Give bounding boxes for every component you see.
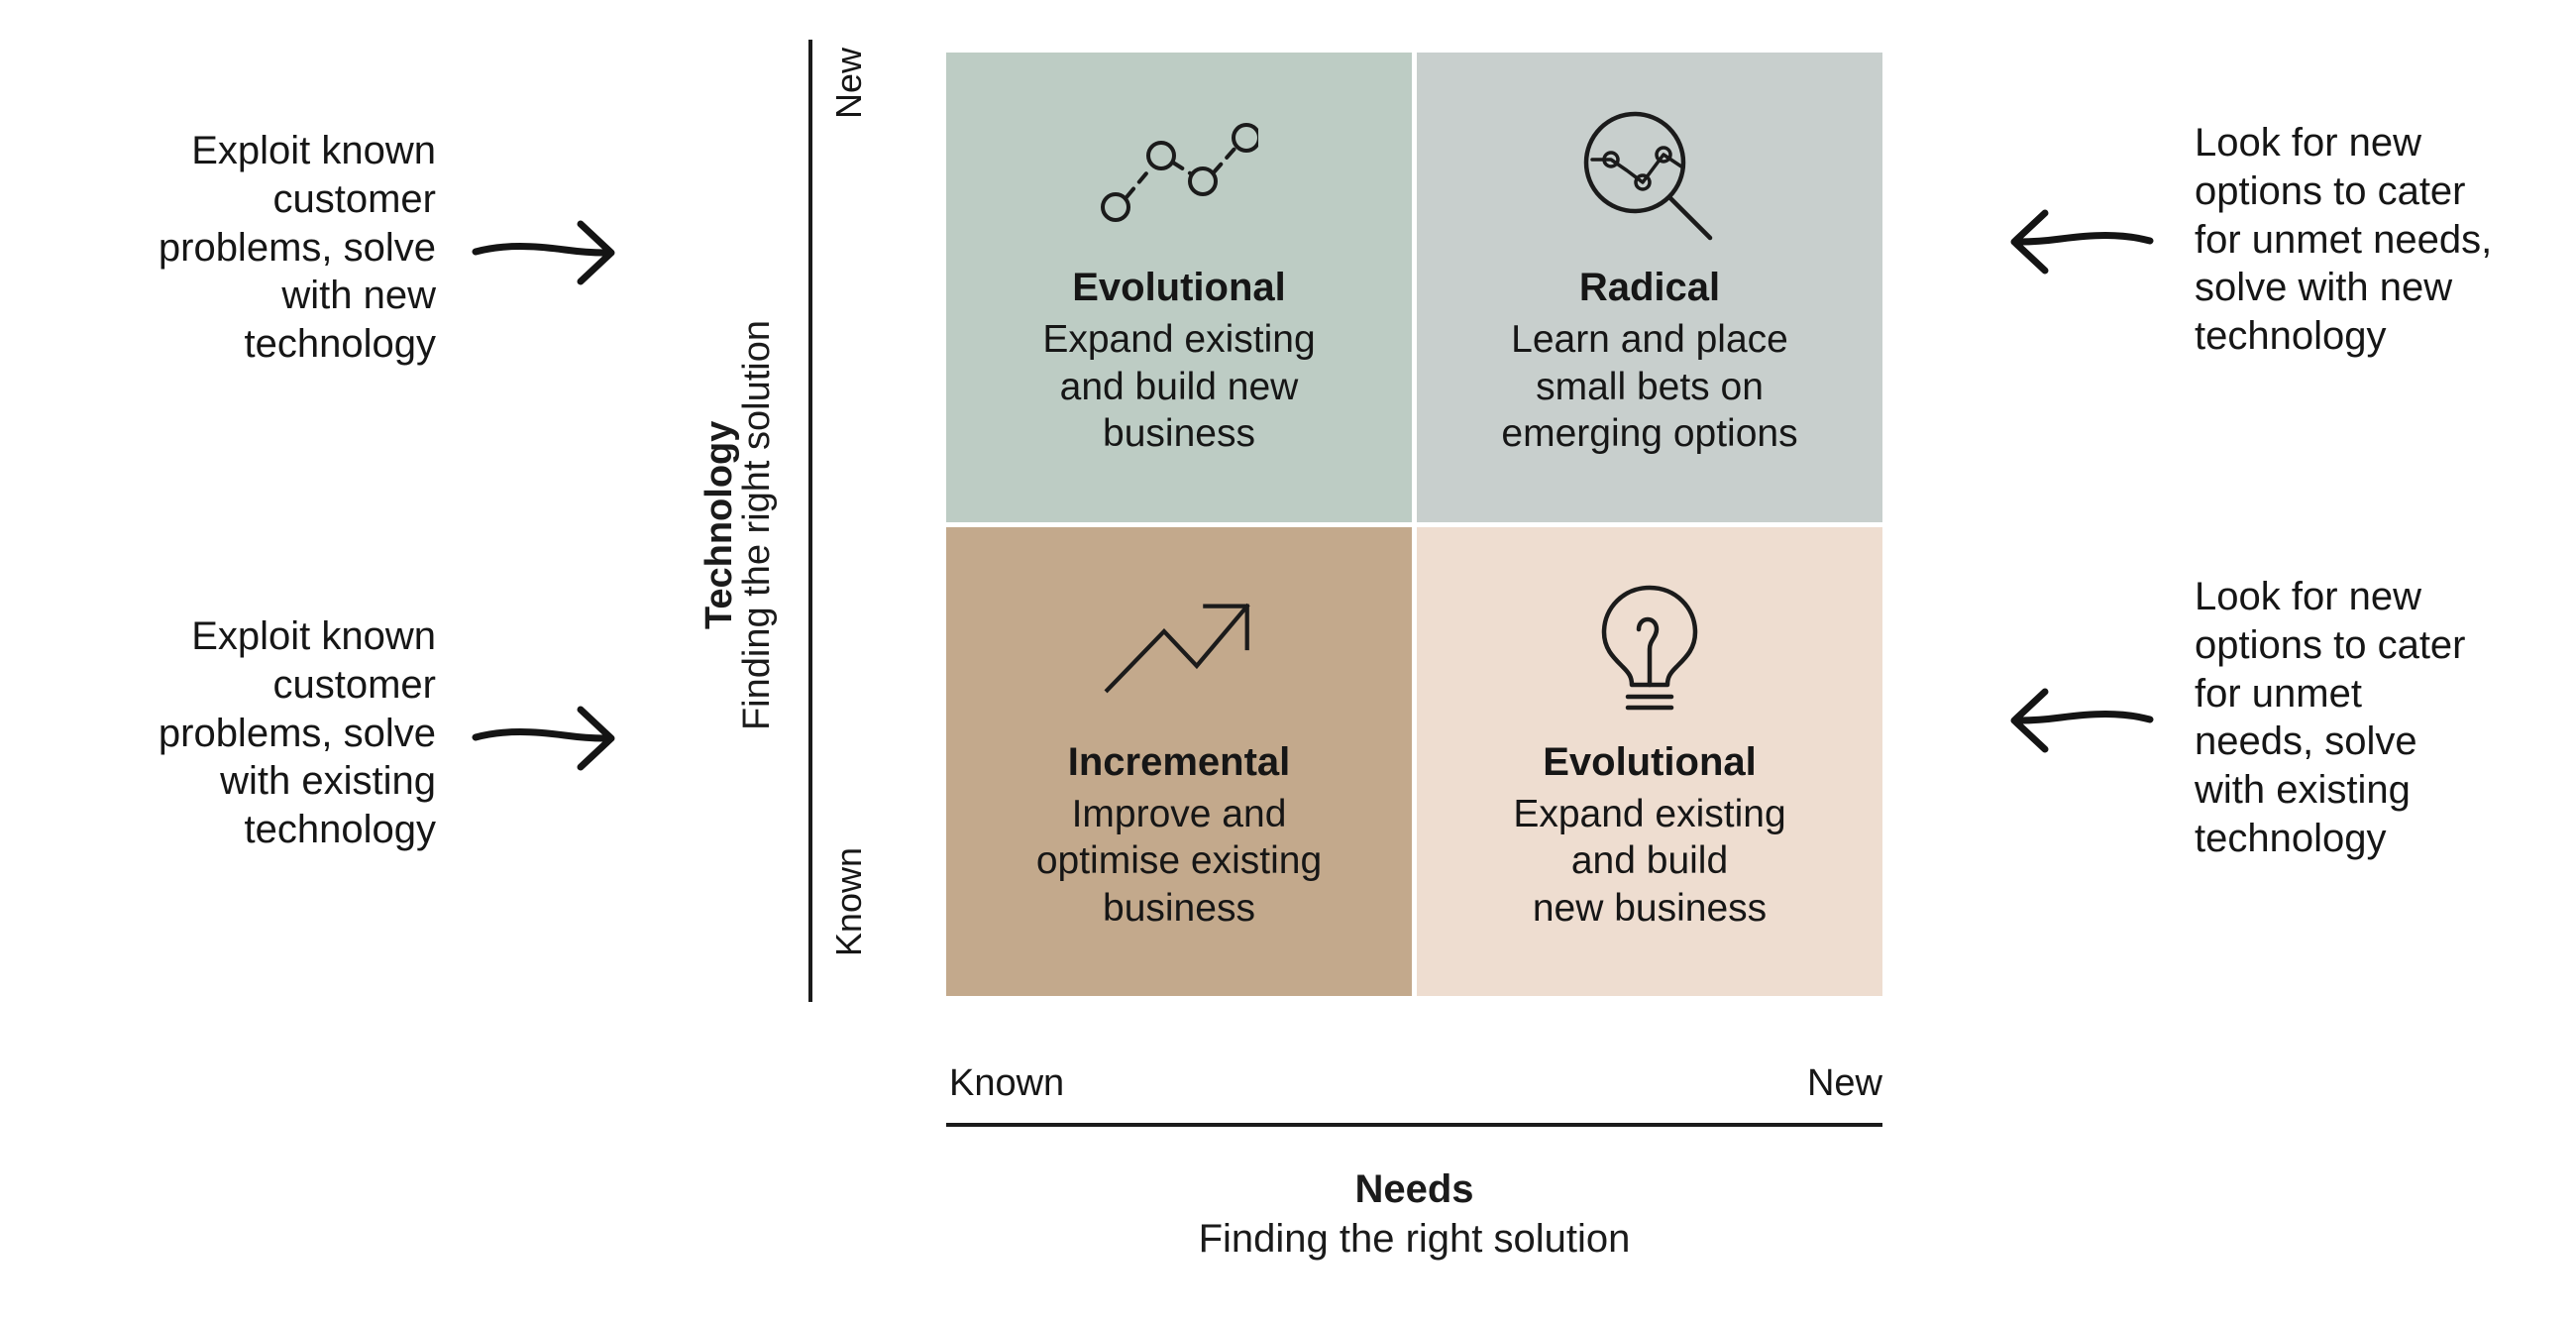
x-axis-title: Needs Finding the right solution [946, 1164, 1882, 1264]
quadrant-title: Incremental [1068, 737, 1291, 787]
trending-up-arrow-icon [1100, 575, 1258, 723]
x-axis-tick-new: New [1807, 1062, 1882, 1105]
x-axis-title-main: Needs [946, 1164, 1882, 1214]
y-axis-tick-known: Known [828, 847, 870, 956]
quadrant-title: Radical [1579, 263, 1720, 312]
arrow-right-icon [466, 200, 639, 294]
arrow-right-icon [466, 686, 639, 780]
x-axis-line [946, 1123, 1882, 1127]
quadrant-evolutional-bottom-right[interactable]: Evolutional Expand existing and build ne… [1417, 527, 1882, 997]
annotation-top-right: Look for new options to cater for unmet … [1986, 119, 2576, 361]
quadrant-description: Improve and optimise existing business [1019, 791, 1340, 933]
annotation-bottom-left-text: Exploit known customer problems, solve w… [30, 612, 436, 854]
quadrant-description: Expand existing and build new business [1495, 791, 1803, 933]
y-axis-title: Technology Finding the right solution [674, 248, 803, 803]
lightbulb-icon [1570, 575, 1729, 723]
y-axis-line [808, 40, 812, 1002]
y-axis-title-main: Technology [700, 320, 738, 730]
quadrant-matrix: Evolutional Expand existing and build ne… [946, 53, 1882, 996]
magnifier-chart-icon [1570, 100, 1729, 249]
arrow-left-icon [1986, 671, 2160, 765]
annotation-top-left: Exploit known customer problems, solve w… [30, 127, 639, 369]
arrow-left-icon [1986, 192, 2160, 286]
annotation-top-right-text: Look for new options to cater for unmet … [2195, 119, 2576, 361]
quadrant-title: Evolutional [1072, 263, 1286, 312]
annotation-top-left-text: Exploit known customer problems, solve w… [30, 127, 436, 369]
y-axis-tick-new: New [828, 48, 870, 119]
y-axis-title-sub: Finding the right solution [738, 320, 776, 730]
quadrant-title: Evolutional [1543, 737, 1757, 787]
innovation-matrix-diagram: Exploit known customer problems, solve w… [0, 0, 2576, 1326]
x-axis-title-sub: Finding the right solution [946, 1214, 1882, 1264]
scatter-nodes-icon [1100, 100, 1258, 249]
annotation-bottom-left: Exploit known customer problems, solve w… [30, 612, 639, 854]
annotation-bottom-right-text: Look for new options to cater for unmet … [2195, 573, 2576, 863]
annotation-bottom-right: Look for new options to cater for unmet … [1986, 573, 2576, 863]
quadrant-radical-top-right[interactable]: Radical Learn and place small bets on em… [1417, 53, 1882, 522]
quadrant-description: Expand existing and build new business [1024, 316, 1333, 458]
quadrant-incremental-bottom-left[interactable]: Incremental Improve and optimise existin… [946, 527, 1412, 997]
quadrant-description: Learn and place small bets on emerging o… [1483, 316, 1815, 458]
x-axis-tick-known: Known [949, 1062, 1064, 1105]
quadrant-evolutional-top-left[interactable]: Evolutional Expand existing and build ne… [946, 53, 1412, 522]
